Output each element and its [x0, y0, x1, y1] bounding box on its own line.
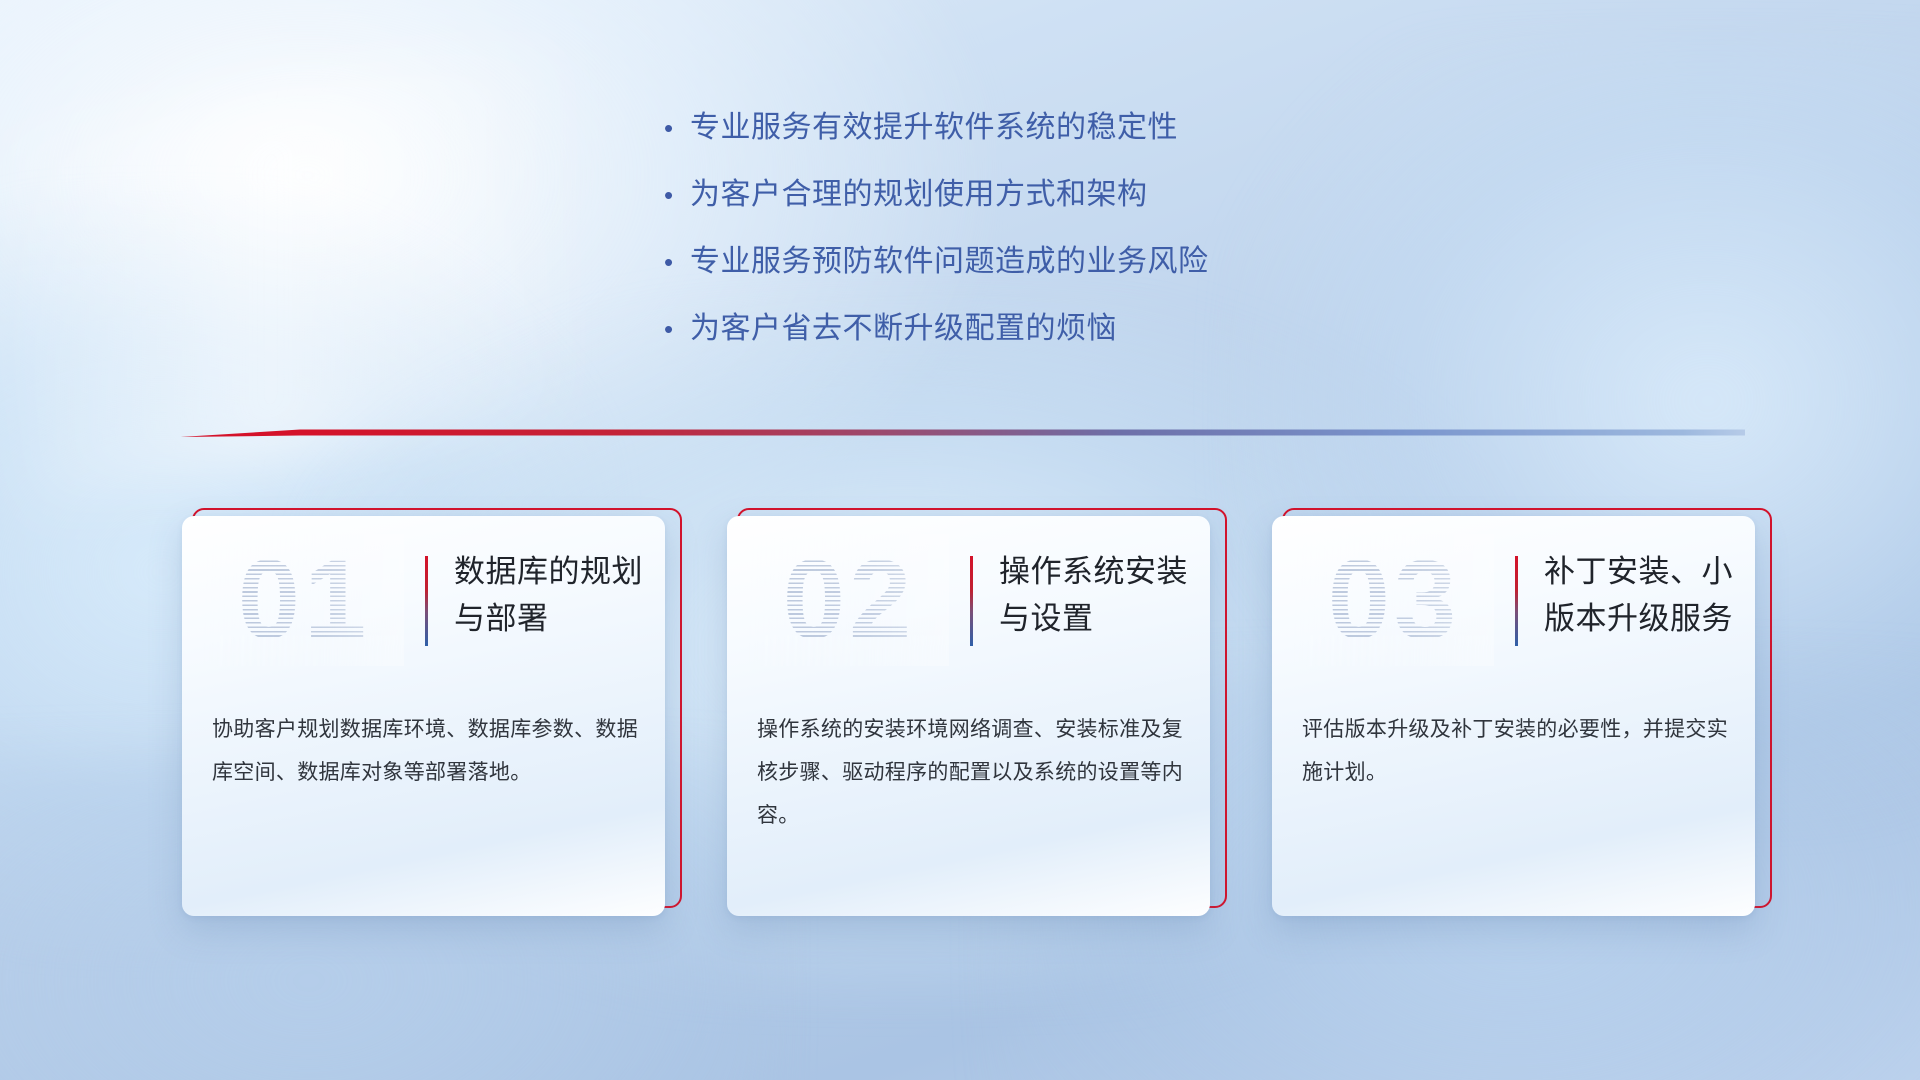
service-card-01[interactable]: 01 数据库的规划与部署 协助客户规划数据库环境、数据库参数、数据库空间、数据库…	[182, 516, 672, 916]
bullet-dot-icon: •	[660, 175, 690, 215]
card-title-rule-icon	[970, 556, 973, 646]
card-title: 数据库的规划与部署	[454, 548, 654, 642]
card-title: 补丁安装、小版本升级服务	[1544, 548, 1744, 642]
card-description: 操作系统的安装环境网络调查、安装标准及复核步骤、驱动程序的配置以及系统的设置等内…	[757, 708, 1185, 837]
service-cards-row: 01 数据库的规划与部署 协助客户规划数据库环境、数据库参数、数据库空间、数据库…	[182, 516, 1752, 926]
card-description: 评估版本升级及补丁安装的必要性，并提交实施计划。	[1302, 708, 1730, 794]
card-header: 01 数据库的规划与部署	[182, 516, 665, 684]
list-item: • 专业服务有效提升软件系统的稳定性	[660, 108, 1420, 148]
bullet-item-label: 专业服务有效提升软件系统的稳定性	[690, 108, 1178, 148]
card-surface: 02 操作系统安装与设置 操作系统的安装环境网络调查、安装标准及复核步骤、驱动程…	[727, 516, 1210, 916]
bullet-item-label: 为客户合理的规划使用方式和架构	[690, 175, 1148, 215]
card-title-rule-icon	[1515, 556, 1518, 646]
bullet-item-label: 专业服务预防软件问题造成的业务风险	[690, 242, 1209, 282]
card-surface: 01 数据库的规划与部署 协助客户规划数据库环境、数据库参数、数据库空间、数据库…	[182, 516, 665, 916]
bullet-item-label: 为客户省去不断升级配置的烦恼	[690, 309, 1117, 349]
card-title: 操作系统安装与设置	[999, 548, 1199, 642]
divider-gradient-line-icon	[180, 424, 1745, 442]
bullet-dot-icon: •	[660, 242, 690, 282]
list-item: • 为客户省去不断升级配置的烦恼	[660, 309, 1420, 349]
card-header: 03 补丁安装、小版本升级服务	[1272, 516, 1755, 684]
list-item: • 为客户合理的规划使用方式和架构	[660, 175, 1420, 215]
card-title-rule-icon	[425, 556, 428, 646]
benefits-bullet-list: • 专业服务有效提升软件系统的稳定性 • 为客户合理的规划使用方式和架构 • 专…	[660, 108, 1420, 376]
card-description: 协助客户规划数据库环境、数据库参数、数据库空间、数据库对象等部署落地。	[212, 708, 640, 794]
card-index-number: 02	[749, 534, 949, 666]
card-index-number: 03	[1294, 534, 1494, 666]
section-divider	[180, 424, 1745, 442]
bullet-dot-icon: •	[660, 108, 690, 148]
list-item: • 专业服务预防软件问题造成的业务风险	[660, 242, 1420, 282]
service-card-03[interactable]: 03 补丁安装、小版本升级服务 评估版本升级及补丁安装的必要性，并提交实施计划。	[1272, 516, 1762, 916]
card-header: 02 操作系统安装与设置	[727, 516, 1210, 684]
card-surface: 03 补丁安装、小版本升级服务 评估版本升级及补丁安装的必要性，并提交实施计划。	[1272, 516, 1755, 916]
card-index-number: 01	[204, 534, 404, 666]
service-card-02[interactable]: 02 操作系统安装与设置 操作系统的安装环境网络调查、安装标准及复核步骤、驱动程…	[727, 516, 1217, 916]
bullet-dot-icon: •	[660, 309, 690, 349]
